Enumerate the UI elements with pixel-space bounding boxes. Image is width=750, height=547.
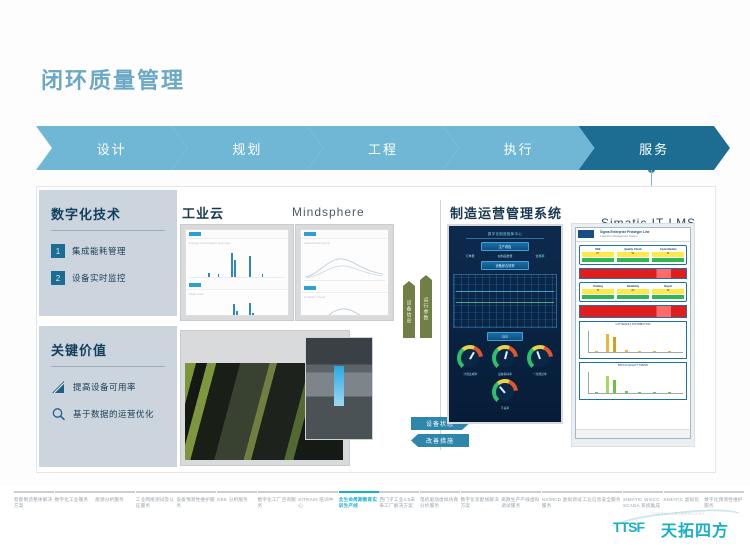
footer-item-7[interactable]: 数字化工厂咨询服务 xyxy=(258,491,298,510)
section-heading-mindsphere: Mindsphere xyxy=(292,205,365,219)
footer-item-13[interactable]: 离散生产产线虚拟调试服务 xyxy=(501,491,541,510)
process-step-label: 工程 xyxy=(368,139,398,158)
logo-mark: TTSF xyxy=(613,519,644,535)
footer-item-rule xyxy=(136,491,176,493)
sidebar-item-data-optimization[interactable]: 基于数据的运营优化 xyxy=(51,407,177,421)
section-heading-mes: 制造运营管理系统 xyxy=(450,203,562,222)
footer-item-label: 离散生产产线虚拟调试服务 xyxy=(501,497,541,510)
footer-item-rule xyxy=(664,491,704,493)
mes-pill-production-board: 生产看板 xyxy=(481,242,529,251)
footer-item-17[interactable]: SIMATIC 虚拟化 xyxy=(664,491,704,503)
badge-2: 2 xyxy=(51,271,65,285)
mes-dashboard-title: 数字化制造指挥中心 xyxy=(466,231,544,239)
process-step-1[interactable]: 设计 xyxy=(36,126,188,170)
footer-item-label: NX/MCD 虚拟调试服务 xyxy=(542,497,582,510)
footer-item-rule xyxy=(420,491,460,493)
footer-item-label: 工业信息安全服务 xyxy=(582,497,622,503)
sidebar-item-availability[interactable]: 提高设备可用率 xyxy=(51,380,177,394)
sidebar-item-energy-management[interactable]: 1 集成能耗管理 xyxy=(51,244,177,258)
badge-1: 1 xyxy=(51,244,65,258)
footer-item-rule xyxy=(379,491,419,493)
gauge-label: 计划达成率 xyxy=(455,372,485,376)
lms-cell-title: Cycle Median xyxy=(652,248,684,251)
mindsphere-dashboard-screenshot[interactable]: Asset Performance Condition Trend xyxy=(295,224,394,321)
area-chart-bottom xyxy=(304,301,385,316)
footer-item-8[interactable]: SITRAIN 培训中心 xyxy=(298,491,338,510)
horizontal-tag-improvement: 改善措施 xyxy=(411,434,469,447)
lms-header: Sigma Enterprise Prototype Line Laborato… xyxy=(576,228,690,242)
process-step-label: 规划 xyxy=(232,139,262,158)
mes-pill-gauges: OEE xyxy=(487,332,523,341)
gauge-utilization: 设备稼动率 xyxy=(490,345,520,376)
logo-tagline: TOPSKY TECHNOLOGY xyxy=(651,511,705,516)
mes-pill-oee: 设备综合效率 xyxy=(481,261,529,270)
footer-item-rule xyxy=(542,491,582,493)
spike-chart-bottom xyxy=(189,298,285,316)
gauge-label: 设备稼动率 xyxy=(490,372,520,376)
mes-trend-chart xyxy=(453,274,557,328)
lms-cell-value: 84 xyxy=(617,289,649,294)
lms-cell-state xyxy=(582,295,614,299)
logo-name: 天拓四方 xyxy=(661,517,729,541)
footer-item-18[interactable]: 数字化预测性维护服务 xyxy=(704,491,744,510)
lms-status-row-2: Yielding 78 Reliability 84 Reject 06 xyxy=(579,282,687,302)
process-step-2[interactable]: 规划 xyxy=(172,126,324,170)
footer-item-label: 能源分析服务 xyxy=(95,497,135,503)
sidebar-card-key-value: 关键价值 提高设备可用率 基于数据的运营优化 xyxy=(39,326,177,467)
footer-item-label: 数字化装配线解决方案 xyxy=(461,497,501,510)
lms-cell-value: 61 xyxy=(652,252,684,257)
footer-item-rule xyxy=(501,491,541,493)
process-step-label: 设计 xyxy=(97,139,127,158)
bar-chart-icon xyxy=(51,380,67,394)
mes-dashboard-screenshot[interactable]: 数字化制造指挥中心 生产看板 订单量 在制品数量 合格率 设备综合效率 OEE … xyxy=(449,226,561,422)
lms-cell-value: 06 xyxy=(652,289,684,294)
sidebar-card-digital-tech: 数字化技术 1 集成能耗管理 2 设备实时监控 xyxy=(39,190,177,316)
mes-chip-orders: 订单量 xyxy=(465,254,474,258)
footer-item-4[interactable]: 工业网络测试及认证服务 xyxy=(136,491,176,510)
lms-cell-state xyxy=(652,295,684,299)
lms-chart-title: LOT RESULT DISTRIBUTION xyxy=(580,323,686,326)
footer-item-rule xyxy=(55,491,95,493)
lms-cell-title: OEE xyxy=(582,248,614,251)
mes-chip-wip: 在制品数量 xyxy=(497,254,512,258)
sidebar-item-label: 提高设备可用率 xyxy=(73,381,136,393)
footer-item-label: 设备预测性维护服务 xyxy=(176,497,216,510)
company-logo: TOPSKY TECHNOLOGY TTSF 天拓四方 xyxy=(605,508,743,542)
lms-cell-title: Yielding xyxy=(582,285,614,288)
lms-cell-title: Reliability xyxy=(617,285,649,288)
footer-item-label: 电机驱动虚拟仿真分析服务 xyxy=(420,497,460,510)
footer-item-label: 数字化工厂咨询服务 xyxy=(258,497,298,510)
lms-alarm-bar xyxy=(579,268,687,279)
sidebar-heading-key-value: 关键价值 xyxy=(51,340,165,367)
footer-item-label: 工业网络测试及认证服务 xyxy=(136,497,176,510)
footer-item-label: 全生命周期教育实训生产线 xyxy=(339,497,379,510)
process-step-4[interactable]: 执行 xyxy=(443,126,595,170)
lms-cell-state xyxy=(617,258,649,262)
lms-dashboard-screenshot[interactable]: Sigma Enterprise Prototype Line Laborato… xyxy=(575,227,691,439)
footer-item-10[interactable]: 西门子工业4.0未来工厂解决方案 xyxy=(379,491,419,510)
footer-item-rule xyxy=(95,491,135,493)
footer-item-rule xyxy=(258,491,298,493)
footer-item-6[interactable]: OEE 分析服务 xyxy=(217,491,257,503)
process-step-3[interactable]: 工程 xyxy=(307,126,459,170)
footer-item-label: 西门子工业4.0未来工厂解决方案 xyxy=(379,497,419,510)
lms-status-cell: Yielding 78 xyxy=(582,285,614,299)
footer-item-3[interactable]: 能源分析服务 xyxy=(95,491,135,503)
footer-item-1[interactable]: 智能制造整体解决方案 xyxy=(14,491,54,510)
footer-item-rule xyxy=(298,491,338,493)
footer-item-rule xyxy=(582,491,622,493)
lms-chart-title: BATCH QUALITY TREND xyxy=(580,364,686,367)
mes-chip-yield: 合格率 xyxy=(535,254,544,258)
lms-cell-state xyxy=(617,295,649,299)
process-step-label: 服务 xyxy=(639,139,669,158)
footer-item-15[interactable]: 工业信息安全服务 xyxy=(582,491,622,503)
footer-item-14[interactable]: NX/MCD 虚拟调试服务 xyxy=(542,491,582,510)
page-title: 闭环质量管理 xyxy=(41,63,185,95)
gauge-plan-attainment: 计划达成率 xyxy=(455,345,485,376)
process-chevron-band: 设计规划工程执行服务 xyxy=(36,126,714,170)
factory-floor-photo[interactable] xyxy=(305,337,373,440)
vertical-tag-runtime-params: 运行参数 xyxy=(420,280,432,338)
footer-item-5[interactable]: 设备预测性维护服务 xyxy=(176,491,216,510)
footer-item-rule xyxy=(623,491,663,493)
lms-status-row-1: OEE 87 Quality Check 92 Cycle Median 61 xyxy=(579,245,687,265)
spike-chart-top xyxy=(189,247,285,278)
gauge-label: 一次通过率 xyxy=(525,372,555,376)
footer-item-label: SITRAIN 培训中心 xyxy=(298,497,338,510)
footer-item-11[interactable]: 电机驱动虚拟仿真分析服务 xyxy=(420,491,460,510)
lms-cell-value: 92 xyxy=(617,252,649,257)
footer-item-label: 智能制造整体解决方案 xyxy=(14,497,54,510)
process-step-5[interactable]: 服务 xyxy=(578,126,730,170)
footer-item-rule xyxy=(704,491,744,493)
footer-item-16[interactable]: SIMATIC WinCC SCADA 系统集成 xyxy=(623,491,663,510)
footer-item-2[interactable]: 数字化工业服务 xyxy=(55,491,95,503)
lms-cell-title: Reject xyxy=(652,285,684,288)
sidebar-item-label: 设备实时监控 xyxy=(72,272,126,284)
lms-status-cell: Reject 06 xyxy=(652,285,684,299)
lms-chart-lot-result: LOT RESULT DISTRIBUTION xyxy=(579,321,687,359)
process-step-label: 执行 xyxy=(504,139,534,158)
energy-dashboard-screenshot[interactable]: Energy Consumption Overview Peak Load xyxy=(180,224,294,321)
sidebar-item-realtime-monitoring[interactable]: 2 设备实时监控 xyxy=(51,271,177,285)
lms-status-cell: Cycle Median 61 xyxy=(652,248,684,262)
footer-item-label: OEE 分析服务 xyxy=(217,497,257,503)
footer-item-rule xyxy=(339,491,379,493)
gauge-defect-rate: 不良率 xyxy=(490,379,520,410)
footer-item-rule xyxy=(217,491,257,493)
lms-chart-plot xyxy=(588,331,683,353)
lms-cell-state xyxy=(652,258,684,262)
lms-cell-state xyxy=(582,258,614,262)
footer-item-label: 数字化工业服务 xyxy=(55,497,95,503)
footer-item-label: SIMATIC 虚拟化 xyxy=(664,497,704,503)
lms-cell-value: 78 xyxy=(582,289,614,294)
lms-chart-batch-quality: BATCH QUALITY TREND xyxy=(579,362,687,400)
sidebar-item-label: 集成能耗管理 xyxy=(72,245,126,257)
magnifier-icon xyxy=(51,407,67,421)
lms-cell-value: 87 xyxy=(582,252,614,257)
area-chart-top xyxy=(304,247,385,281)
lms-status-cell: Reliability 84 xyxy=(617,285,649,299)
vertical-tag-device-info: 设备信息 xyxy=(403,286,415,338)
lms-chart-plot xyxy=(588,372,683,394)
lms-header-title: Sigma Enterprise Prototype Line xyxy=(600,230,649,234)
siemens-logo xyxy=(578,230,594,238)
lms-header-subtitle: Laboratory Management System xyxy=(600,235,638,238)
lms-cell-title: Quality Check xyxy=(617,248,649,251)
footer-item-rule xyxy=(14,491,54,493)
gauge-label: 不良率 xyxy=(490,406,520,410)
sidebar-heading-digital-tech: 数字化技术 xyxy=(51,204,165,231)
lms-footer-bar xyxy=(576,429,690,438)
lms-status-cell: OEE 87 xyxy=(582,248,614,262)
gauge-first-pass: 一次通过率 xyxy=(525,345,555,376)
mes-chip-row: 订单量 在制品数量 合格率 xyxy=(454,254,556,258)
section-heading-industrial-cloud: 工业云 xyxy=(182,203,224,225)
footer-item-rule xyxy=(461,491,501,493)
slide-canvas: 闭环质量管理 设计规划工程执行服务 数字化技术 1 集成能耗管理 2 设备实时监… xyxy=(0,0,750,547)
footer-item-12[interactable]: 数字化装配线解决方案 xyxy=(461,491,501,510)
sidebar-item-label: 基于数据的运营优化 xyxy=(73,408,154,420)
footer-item-rule xyxy=(176,491,216,493)
mes-gauge-group: 计划达成率 设备稼动率 一次通过率 不良率 xyxy=(453,345,557,413)
footer-item-9[interactable]: 全生命周期教育实训生产线 xyxy=(339,491,379,510)
lms-alarm-bar-2 xyxy=(579,305,687,318)
lms-status-cell: Quality Check 92 xyxy=(617,248,649,262)
